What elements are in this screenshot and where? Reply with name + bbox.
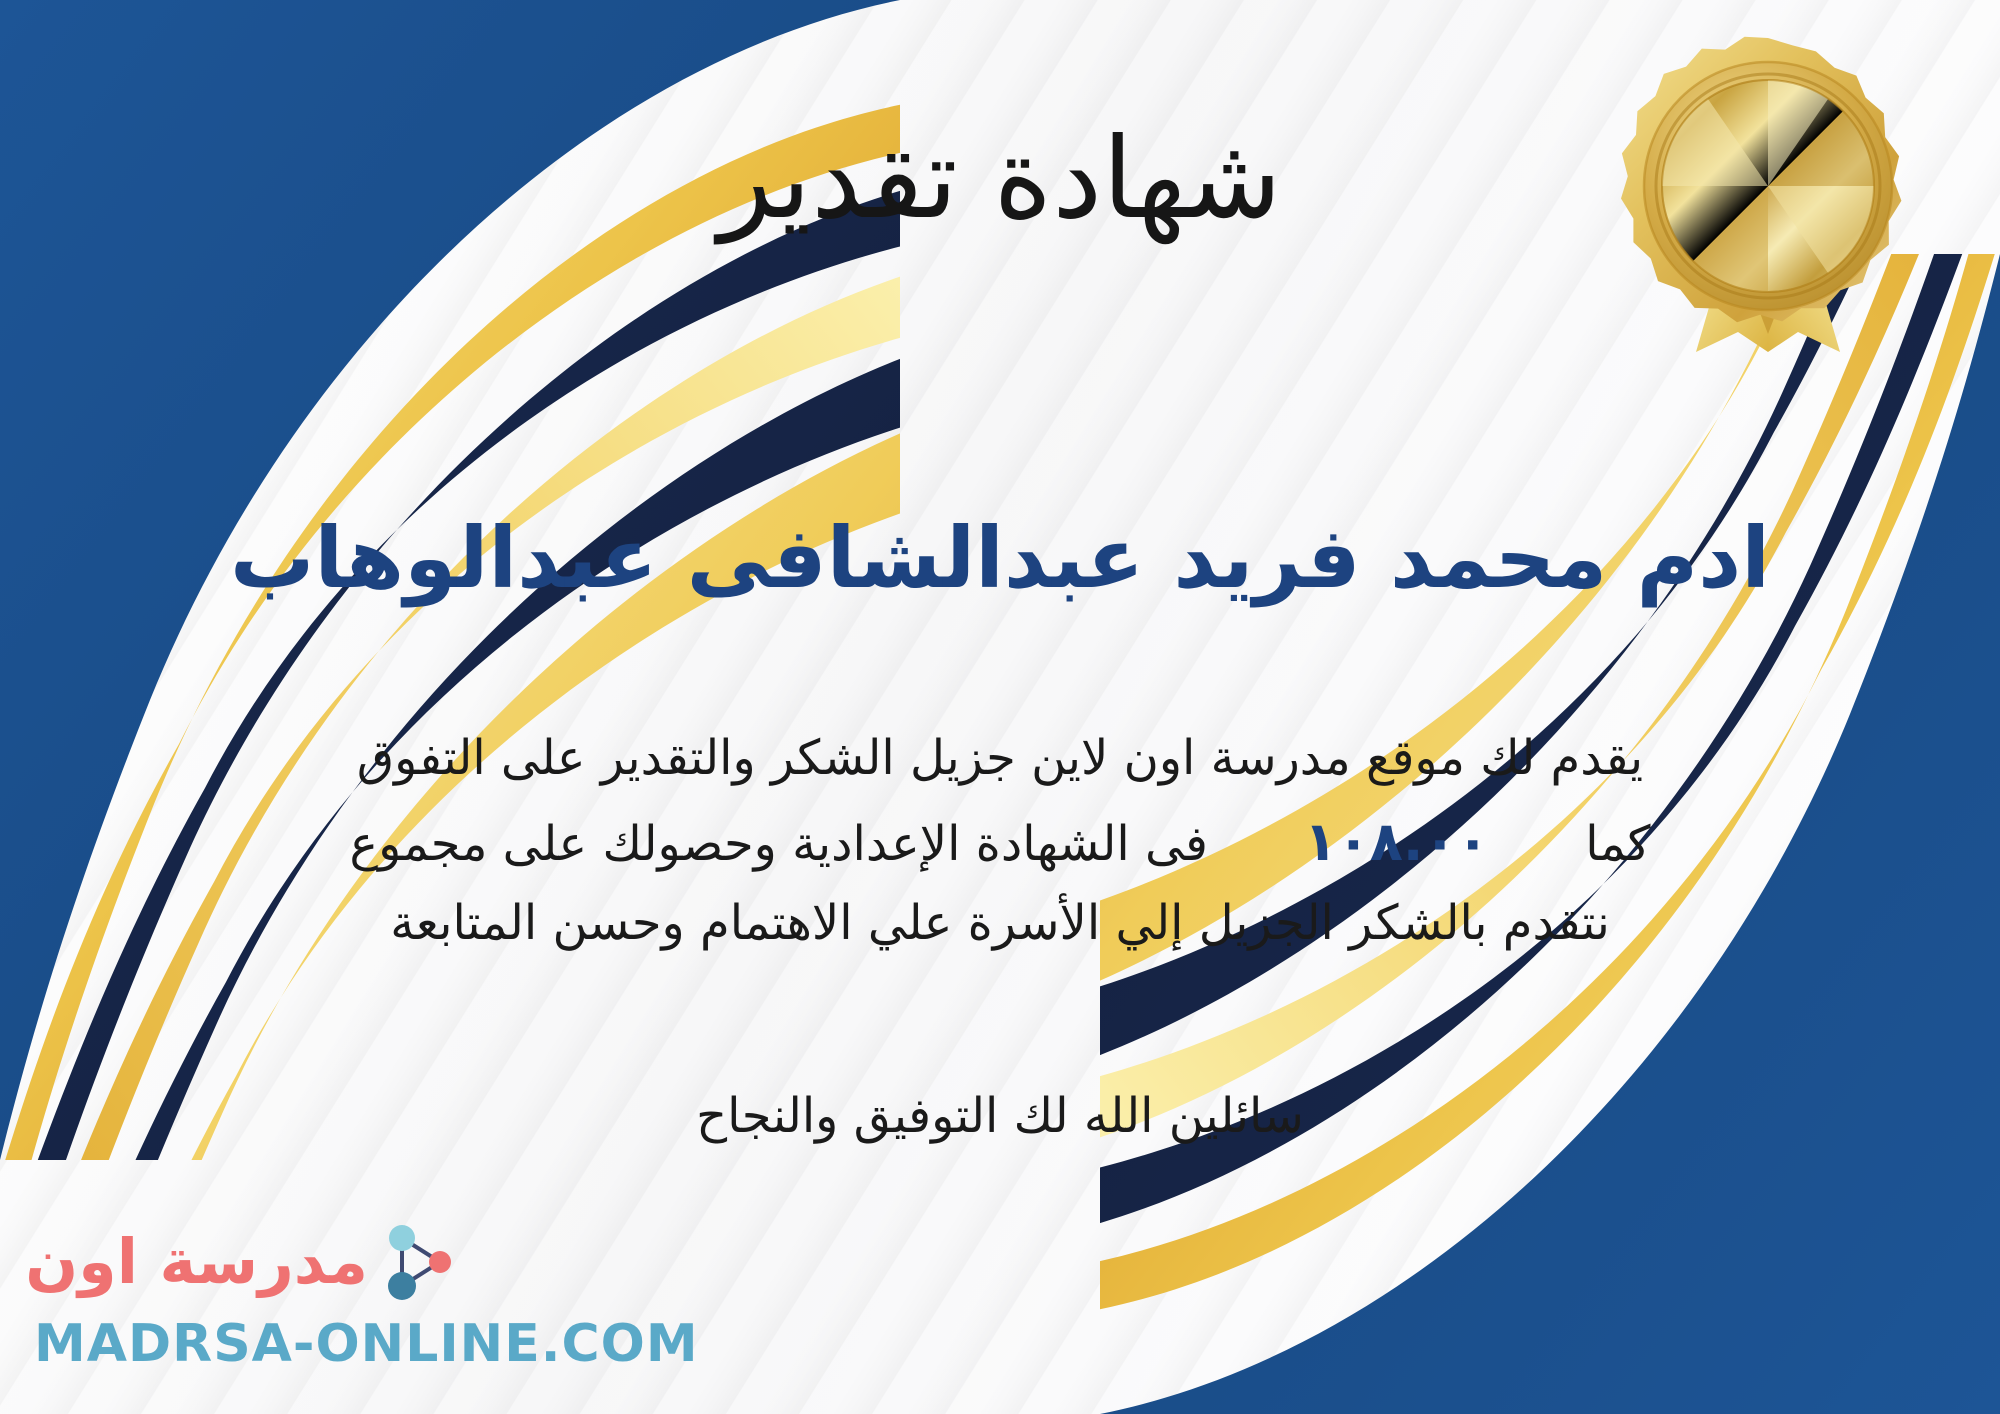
- brand-arabic-name: مدرسة اون لاين: [0, 1229, 368, 1294]
- recipient-name: ادم محمد فريد عبدالشافى عبدالوهاب: [0, 510, 2000, 607]
- page-title: شهادة تقدير: [0, 118, 2000, 241]
- body-line-2-prefix: فى الشهادة الإعدادية وحصولك على مجموع: [350, 806, 1208, 884]
- certificate-content: شهادة تقدير ادم محمد فريد عبدالشافى عبدا…: [0, 0, 2000, 1414]
- brand-url[interactable]: MADRSA-ONLINE.COM: [34, 1314, 464, 1374]
- total-score-value: ١٠٨.٠٠: [1304, 798, 1489, 885]
- network-nodes-icon: [378, 1212, 464, 1312]
- certificate-canvas: شهادة تقدير ادم محمد فريد عبدالشافى عبدا…: [0, 0, 2000, 1414]
- closing-line: سائلين الله لك التوفيق والنجاح: [0, 1088, 2000, 1144]
- body-line-2-suffix: كما: [1585, 806, 1650, 884]
- certificate-body: يقدم لك موقع مدرسة اون لاين جزيل الشكر و…: [40, 720, 1960, 963]
- brand-logo[interactable]: مدرسة اون لاين MADRSA-ONLINE.COM: [34, 1212, 464, 1374]
- body-line-1: يقدم لك موقع مدرسة اون لاين جزيل الشكر و…: [40, 720, 1960, 798]
- body-line-3: نتقدم بالشكر الجزيل إلي الأسرة علي الاهت…: [40, 885, 1960, 963]
- body-line-2: كما ١٠٨.٠٠ فى الشهادة الإعدادية وحصولك ع…: [40, 798, 1960, 885]
